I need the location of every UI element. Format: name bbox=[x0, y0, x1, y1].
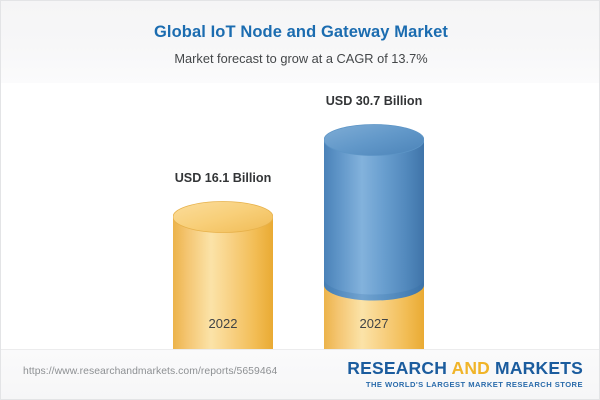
data-label-2022: USD 16.1 Billion bbox=[123, 171, 323, 185]
source-url-link[interactable]: https://www.researchandmarkets.com/repor… bbox=[23, 366, 277, 377]
brand-tagline: THE WORLD'S LARGEST MARKET RESEARCH STOR… bbox=[347, 378, 583, 390]
brand-name: RESEARCH AND MARKETS bbox=[347, 358, 583, 378]
brand-name-and: AND bbox=[451, 358, 490, 378]
data-label-2027: USD 30.7 Billion bbox=[274, 94, 474, 108]
footer: https://www.researchandmarkets.com/repor… bbox=[1, 349, 600, 400]
brand-name-research: RESEARCH bbox=[347, 358, 451, 378]
infographic-card: Global IoT Node and Gateway Market Marke… bbox=[0, 0, 600, 400]
brand-logo[interactable]: RESEARCH AND MARKETS THE WORLD'S LARGEST… bbox=[347, 358, 583, 390]
page-subtitle: Market forecast to grow at a CAGR of 13.… bbox=[1, 42, 600, 67]
header: Global IoT Node and Gateway Market Marke… bbox=[1, 1, 600, 83]
page-title: Global IoT Node and Gateway Market bbox=[1, 1, 600, 42]
chart-plot-area: USD 16.1 Billion bbox=[1, 83, 600, 349]
category-label-2027: 2027 bbox=[274, 316, 474, 331]
brand-name-markets: MARKETS bbox=[490, 358, 583, 378]
